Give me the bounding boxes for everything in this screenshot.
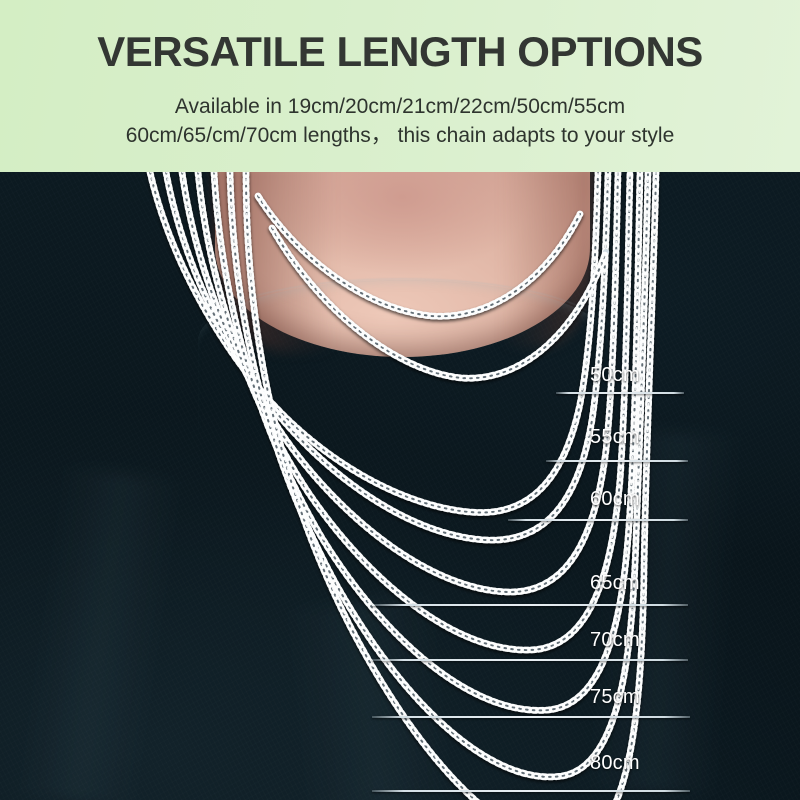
necklace-chains bbox=[0, 172, 800, 800]
subtitle-line-1: Available in 19cm/20cm/21cm/22cm/50cm/55… bbox=[0, 92, 800, 121]
measurement-label-80cm: 80cm bbox=[590, 752, 640, 775]
measurement-line-50cm bbox=[556, 392, 684, 394]
product-photo: 50cm55cm60cm65cm70cm75cm80cm bbox=[0, 172, 800, 800]
header-subtitle: Available in 19cm/20cm/21cm/22cm/50cm/55… bbox=[0, 92, 800, 150]
measurement-label-55cm: 55cm bbox=[590, 426, 640, 449]
subtitle-line-2: 60cm/65/cm/70cm lengths， this chain adap… bbox=[0, 121, 800, 150]
measurement-label-65cm: 65cm bbox=[590, 572, 640, 595]
measurement-line-55cm bbox=[546, 460, 688, 462]
measurement-line-80cm bbox=[372, 790, 690, 792]
measurement-line-70cm bbox=[372, 659, 688, 661]
measurement-line-65cm bbox=[372, 604, 688, 606]
measurement-label-60cm: 60cm bbox=[590, 488, 640, 511]
measurement-line-75cm bbox=[372, 716, 690, 718]
chain-strands-svg bbox=[0, 172, 800, 800]
measurement-label-70cm: 70cm bbox=[590, 629, 640, 652]
measurement-label-75cm: 75cm bbox=[590, 686, 640, 709]
measurement-line-60cm bbox=[508, 519, 688, 521]
measurement-label-50cm: 50cm bbox=[590, 364, 640, 387]
banner-header: VERSATILE LENGTH OPTIONS Available in 19… bbox=[0, 0, 800, 172]
product-banner: VERSATILE LENGTH OPTIONS Available in 19… bbox=[0, 0, 800, 800]
chain-strand bbox=[258, 196, 580, 316]
page-title: VERSATILE LENGTH OPTIONS bbox=[0, 28, 800, 76]
